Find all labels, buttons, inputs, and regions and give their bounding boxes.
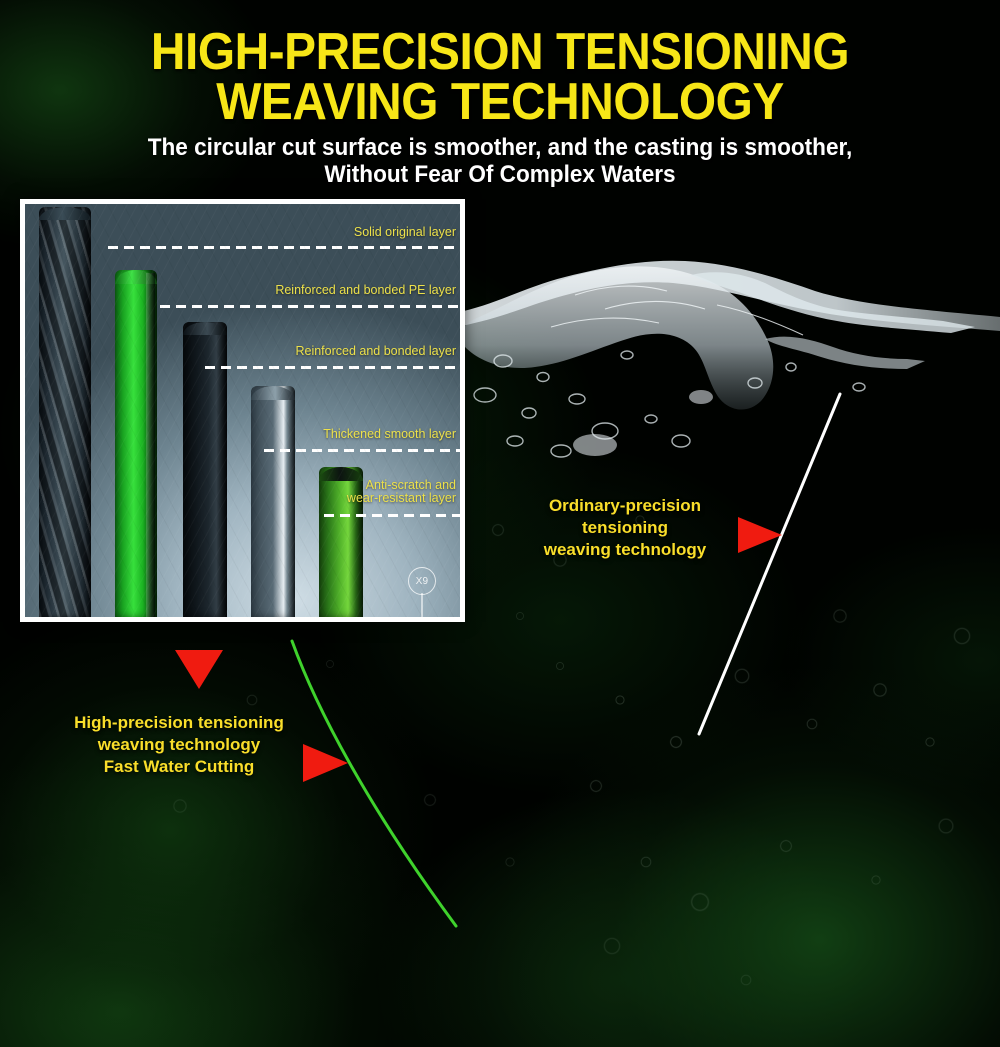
layer-label-thickened-smooth: Thickened smooth layer — [210, 428, 460, 441]
layer-dash-reinforced-pe — [160, 305, 460, 308]
bar-reinforced-bonded-pe — [115, 270, 157, 617]
layer-label-reinforced-pe: Reinforced and bonded PE layer — [140, 284, 460, 297]
bar-solid-original-cable — [39, 207, 91, 617]
callout-high-precision: High-precision tensioning weaving techno… — [44, 712, 314, 777]
layer-dash-thickened-smooth — [264, 449, 460, 452]
layer-label-solid-original: Solid original layer — [160, 226, 460, 239]
poster-header: HIGH-PRECISION TENSIONING WEAVING TECHNO… — [0, 0, 1000, 189]
magnification-stem — [421, 593, 423, 617]
marker-triangle-right-ordinary-icon — [738, 517, 782, 553]
subtitle-line-1: The circular cut surface is smoother, an… — [148, 134, 853, 161]
magnification-badge: X9 — [408, 567, 436, 595]
subtitle-line-2: Without Fear Of Complex Waters — [30, 162, 970, 189]
marker-triangle-right-high-precision-icon — [303, 744, 348, 782]
layer-dash-anti-scratch — [324, 514, 460, 517]
layer-label-anti-scratch: Anti-scratch and wear-resistant layer — [260, 479, 460, 505]
layer-structure-figure: Solid original layer Reinforced and bond… — [20, 199, 465, 622]
product-poster: HIGH-PRECISION TENSIONING WEAVING TECHNO… — [0, 0, 1000, 1047]
layer-structure-canvas: Solid original layer Reinforced and bond… — [25, 204, 460, 617]
layer-dash-reinforced-bonded — [205, 366, 460, 369]
callout-ordinary-precision: Ordinary-precision tensioning weaving te… — [510, 495, 740, 560]
title-line-2: WEAVING TECHNOLOGY — [40, 78, 960, 128]
page-title: HIGH-PRECISION TENSIONING WEAVING TECHNO… — [40, 0, 960, 128]
layer-label-reinforced-bonded: Reinforced and bonded layer — [160, 345, 460, 358]
marker-triangle-down-icon — [175, 650, 223, 689]
page-subtitle: The circular cut surface is smoother, an… — [30, 135, 970, 189]
layer-dash-solid-original — [108, 246, 460, 249]
